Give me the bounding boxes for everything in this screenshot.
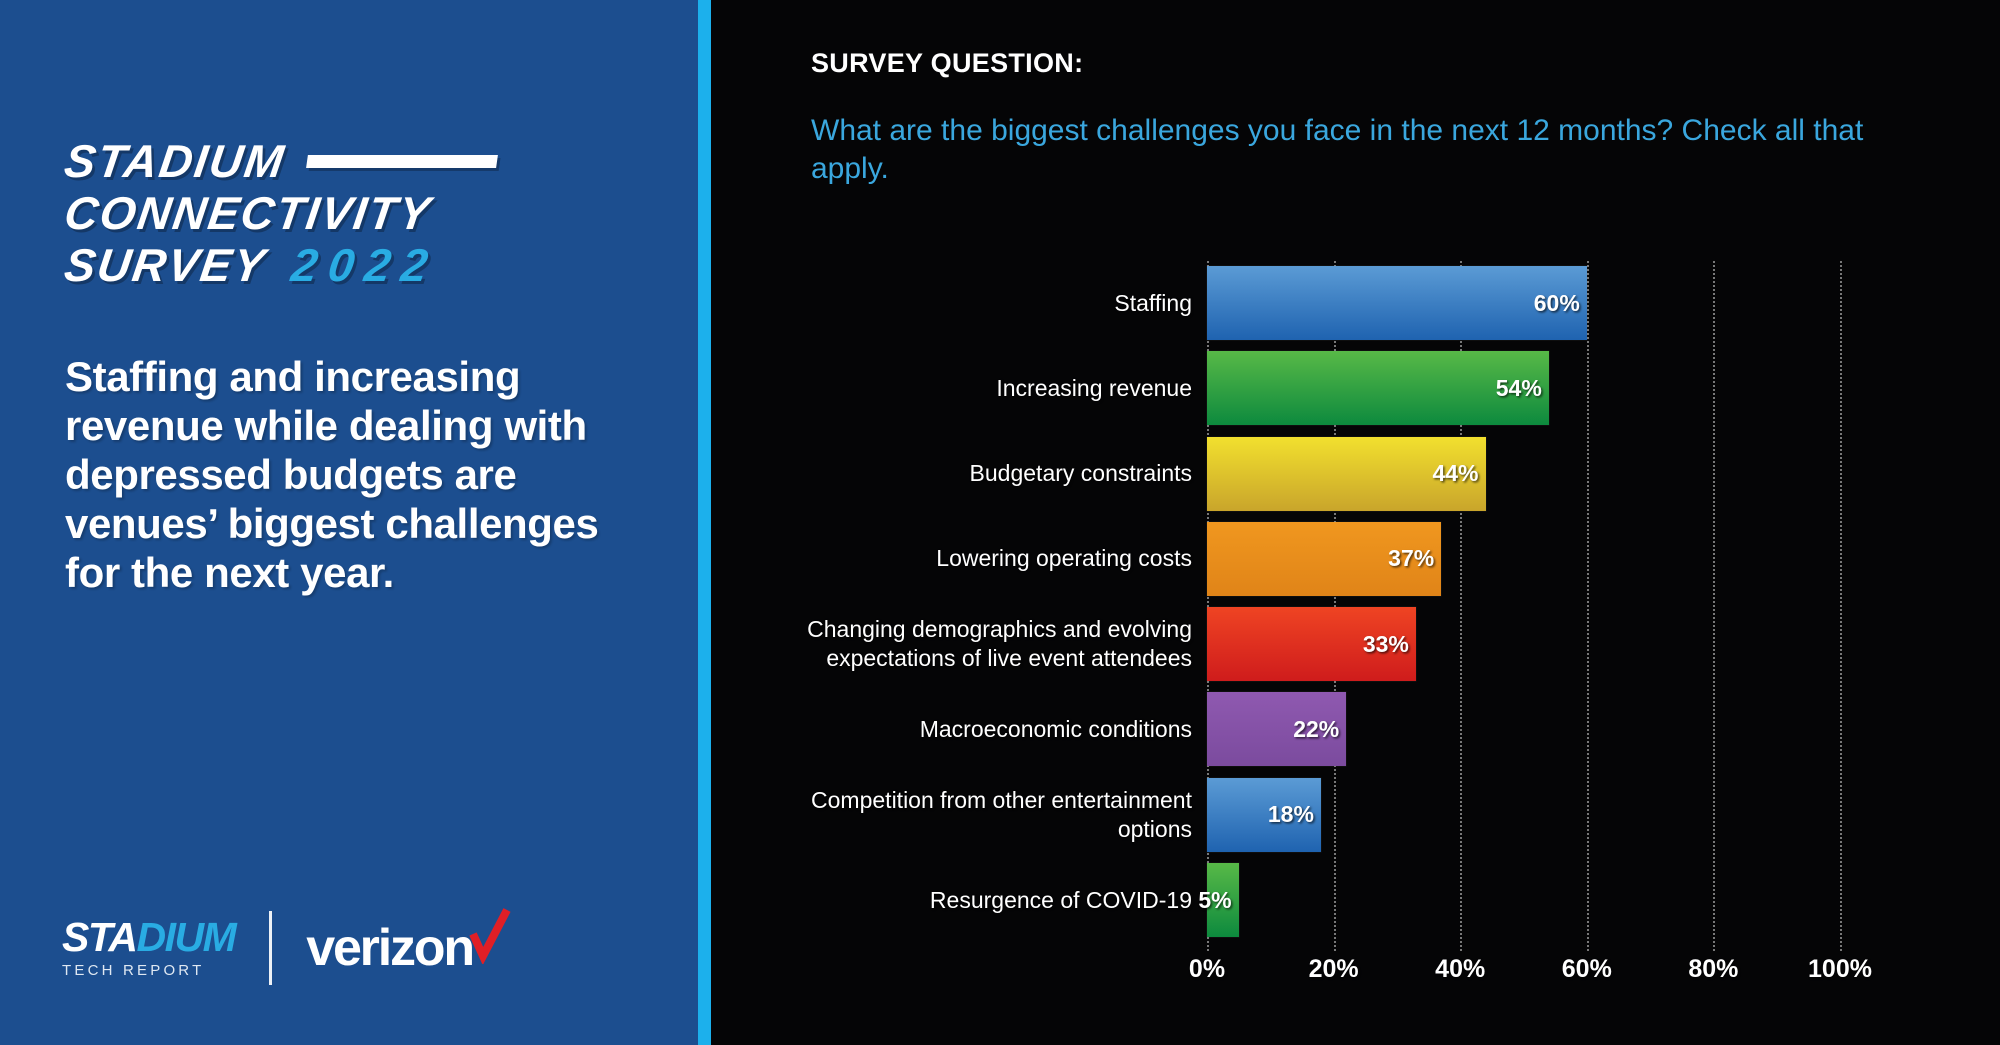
bar-value-label: 22% xyxy=(1293,716,1346,743)
stadium-tech-report-logo: STADIUM TECH REPORT xyxy=(62,917,235,979)
bar: 54% xyxy=(1207,351,1549,425)
brand-title-line-2: CONNECTIVITY xyxy=(65,187,665,239)
bar-value-label: 37% xyxy=(1388,545,1441,572)
bar-category-label: Staffing xyxy=(732,266,1192,340)
x-axis-tick-label: 40% xyxy=(1435,955,1485,984)
bar-row: Budgetary constraints44% xyxy=(1207,432,1907,517)
bar-row: Increasing revenue54% xyxy=(1207,346,1907,431)
chart-bars: Staffing60%Increasing revenue54%Budgetar… xyxy=(1207,261,1907,951)
x-axis-tick-label: 20% xyxy=(1309,955,1359,984)
brand-title: STADIUM CONNECTIVITY SURVEY 2022 xyxy=(65,135,665,291)
bar-category-label: Macroeconomic conditions xyxy=(732,692,1192,766)
bar-row: Resurgence of COVID-195% xyxy=(1207,858,1907,943)
logo-separator xyxy=(269,911,272,985)
stadium-tech-report-wordmark: STADIUM xyxy=(62,917,235,957)
bar-category-label: Budgetary constraints xyxy=(732,437,1192,511)
bar-chart: Staffing60%Increasing revenue54%Budgetar… xyxy=(711,255,2000,975)
verizon-wordmark: verizon xyxy=(306,922,473,974)
bar-row: Macroeconomic conditions22% xyxy=(1207,687,1907,772)
bar: 60% xyxy=(1207,266,1587,340)
x-axis-tick-label: 80% xyxy=(1688,955,1738,984)
bar-category-label: Lowering operating costs xyxy=(732,522,1192,596)
bar-category-label: Changing demographics and evolving expec… xyxy=(732,607,1192,681)
bar: 33% xyxy=(1207,607,1416,681)
survey-question-text: What are the biggest challenges you face… xyxy=(811,112,1876,188)
brand-title-connectivity: CONNECTIVITY xyxy=(61,187,435,239)
x-axis-tick-label: 100% xyxy=(1808,955,1872,984)
bar-value-label: 44% xyxy=(1432,460,1485,487)
right-chart-panel: SURVEY QUESTION: What are the biggest ch… xyxy=(711,0,2000,1045)
str-word-part-white: STA xyxy=(62,914,136,960)
brand-title-line-3: SURVEY 2022 xyxy=(65,239,665,291)
bar-value-label: 33% xyxy=(1363,631,1416,658)
bar-value-label: 54% xyxy=(1496,375,1549,402)
bar: 22% xyxy=(1207,692,1346,766)
bar: 5% xyxy=(1207,863,1239,937)
stadium-tech-report-subtitle: TECH REPORT xyxy=(62,962,235,979)
bar-category-label: Competition from other entertainment opt… xyxy=(732,778,1192,852)
brand-title-year: 2022 xyxy=(289,239,443,291)
bar-row: Lowering operating costs37% xyxy=(1207,517,1907,602)
headline-text: Staffing and increasing revenue while de… xyxy=(65,352,625,597)
x-axis-tick-label: 0% xyxy=(1189,955,1225,984)
str-word-part-cyan: DIUM xyxy=(136,914,235,960)
footer-logo-group: STADIUM TECH REPORT verizon xyxy=(62,911,513,985)
bar-value-label: 60% xyxy=(1534,290,1587,317)
bar-row: Staffing60% xyxy=(1207,261,1907,346)
verizon-checkmark-icon xyxy=(467,908,513,969)
brand-title-line-1: STADIUM xyxy=(65,135,665,187)
bar-category-label: Increasing revenue xyxy=(732,351,1192,425)
bar-value-label: 18% xyxy=(1268,801,1321,828)
bar-value-label: 5% xyxy=(1198,887,1238,914)
bar-row: Competition from other entertainment opt… xyxy=(1207,773,1907,858)
verizon-logo: verizon xyxy=(306,922,513,974)
bar: 44% xyxy=(1207,437,1486,511)
survey-question-label: SURVEY QUESTION: xyxy=(811,48,1083,79)
brand-title-stadium: STADIUM xyxy=(61,135,288,187)
accent-divider-strip xyxy=(698,0,711,1045)
infographic-canvas: STADIUM CONNECTIVITY SURVEY 2022 Staffin… xyxy=(0,0,2000,1045)
bar: 37% xyxy=(1207,522,1441,596)
brand-title-survey: SURVEY xyxy=(61,239,269,291)
bar-row: Changing demographics and evolving expec… xyxy=(1207,602,1907,687)
chart-x-axis: 0%20%40%60%80%100% xyxy=(1207,955,1907,995)
bar-category-label: Resurgence of COVID-19 xyxy=(732,863,1192,937)
brand-title-rule xyxy=(306,155,498,168)
bar: 18% xyxy=(1207,778,1321,852)
x-axis-tick-label: 60% xyxy=(1562,955,1612,984)
